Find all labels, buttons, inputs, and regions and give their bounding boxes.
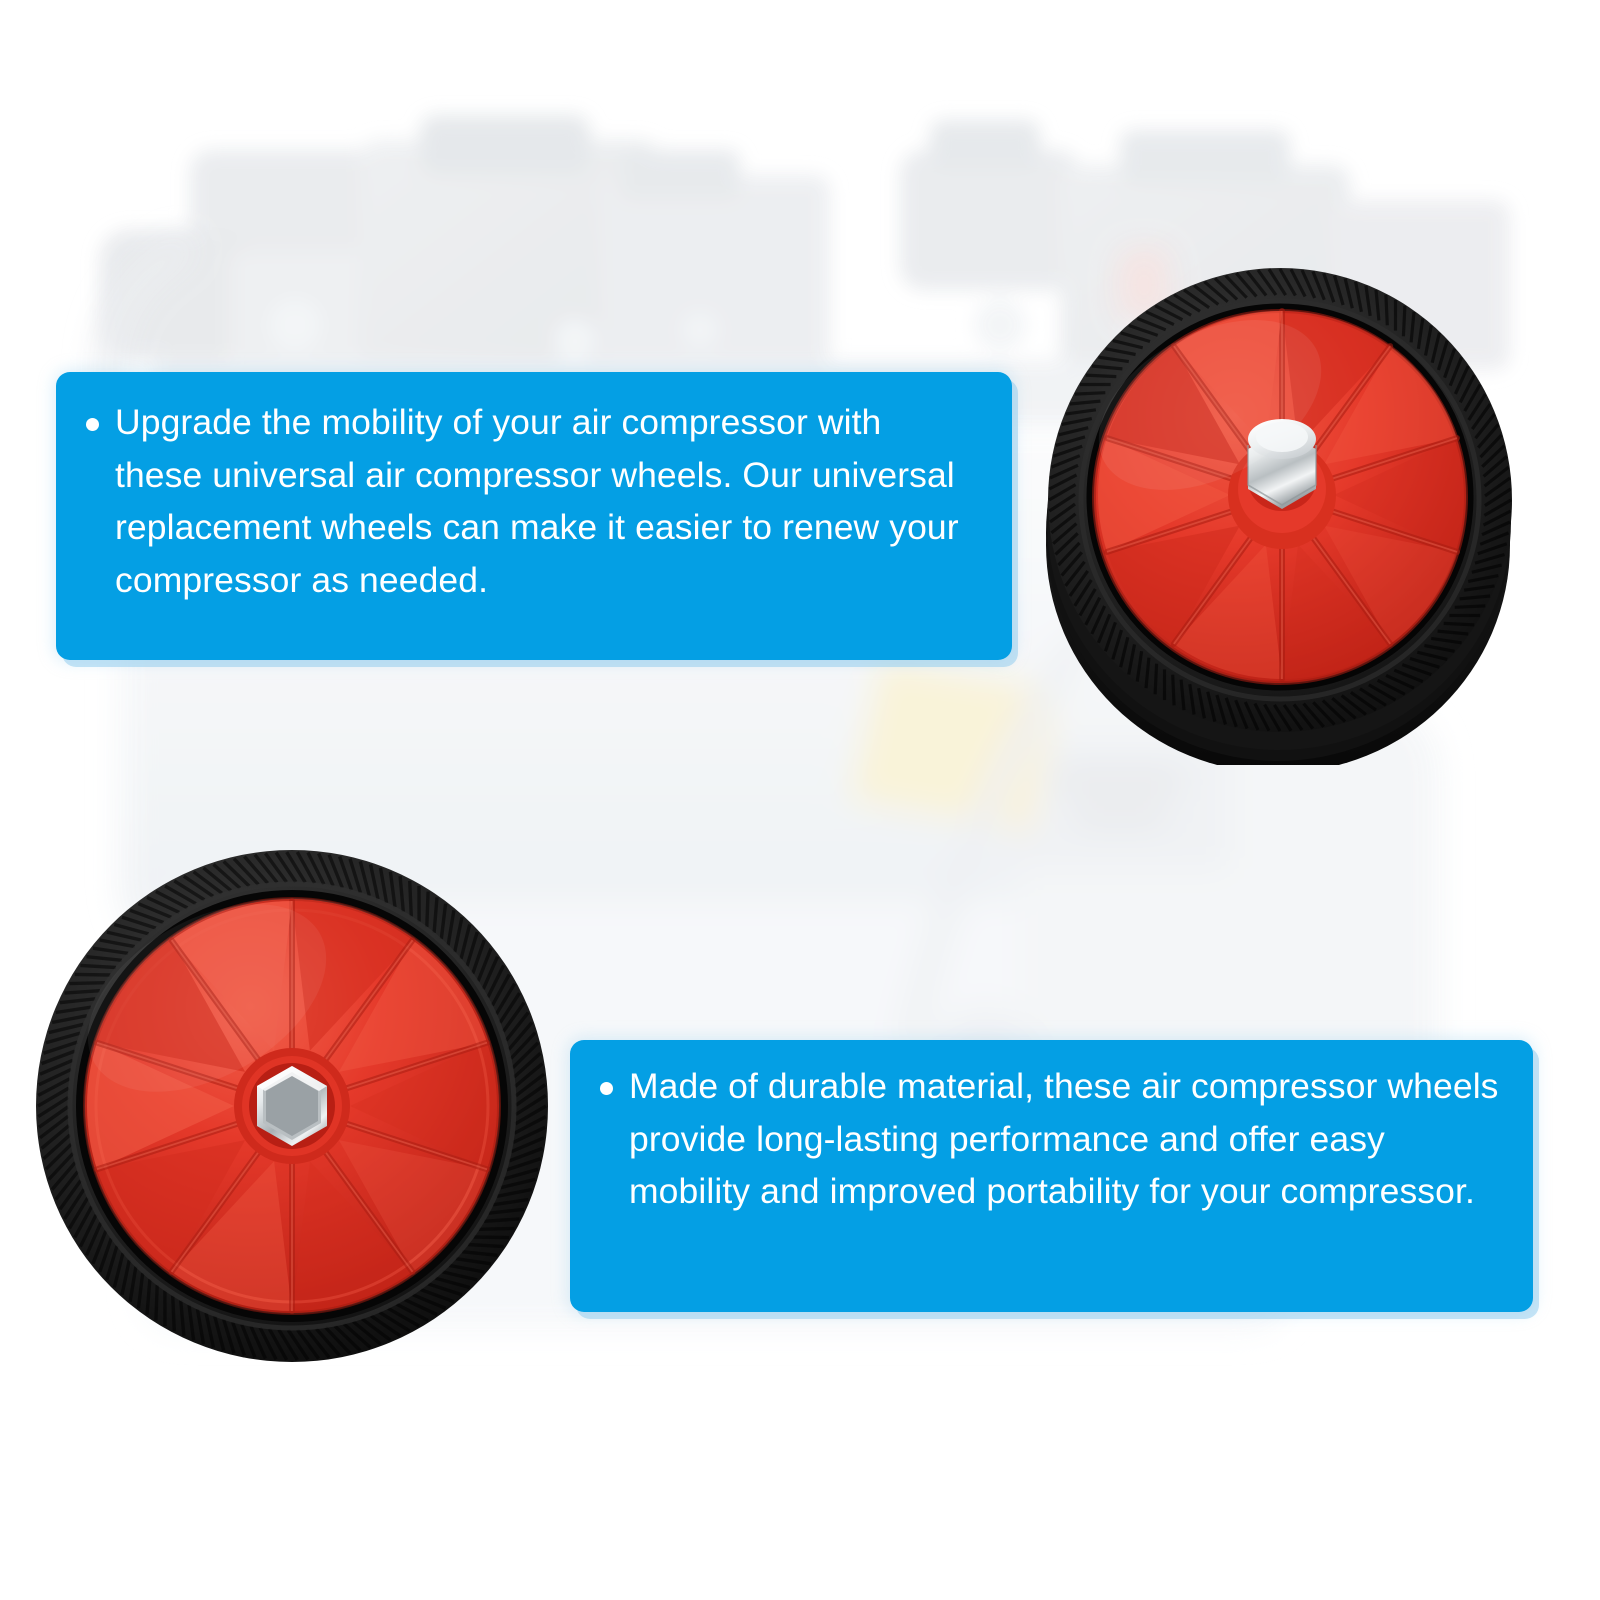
product-image-wheel-angled [1020,245,1540,765]
callout-1-text: Upgrade the mobility of your air compres… [115,396,978,606]
bullet-dot-icon [600,1082,613,1095]
callout-2-bullet-row: Made of durable material, these air comp… [600,1060,1505,1218]
page-title: Air Compressor Wheels Product Feature In… [0,0,1,1]
bullet-dot-icon [86,418,99,431]
feature-callout-2: Made of durable material, these air comp… [570,1040,1533,1312]
callout-2-text: Made of durable material, these air comp… [629,1060,1505,1218]
infographic-page: Upgrade the mobility of your air compres… [0,0,1600,1600]
product-image-wheel-front [22,838,562,1378]
feature-callout-1: Upgrade the mobility of your air compres… [56,372,1012,660]
callout-1-bullet-row: Upgrade the mobility of your air compres… [86,396,978,606]
